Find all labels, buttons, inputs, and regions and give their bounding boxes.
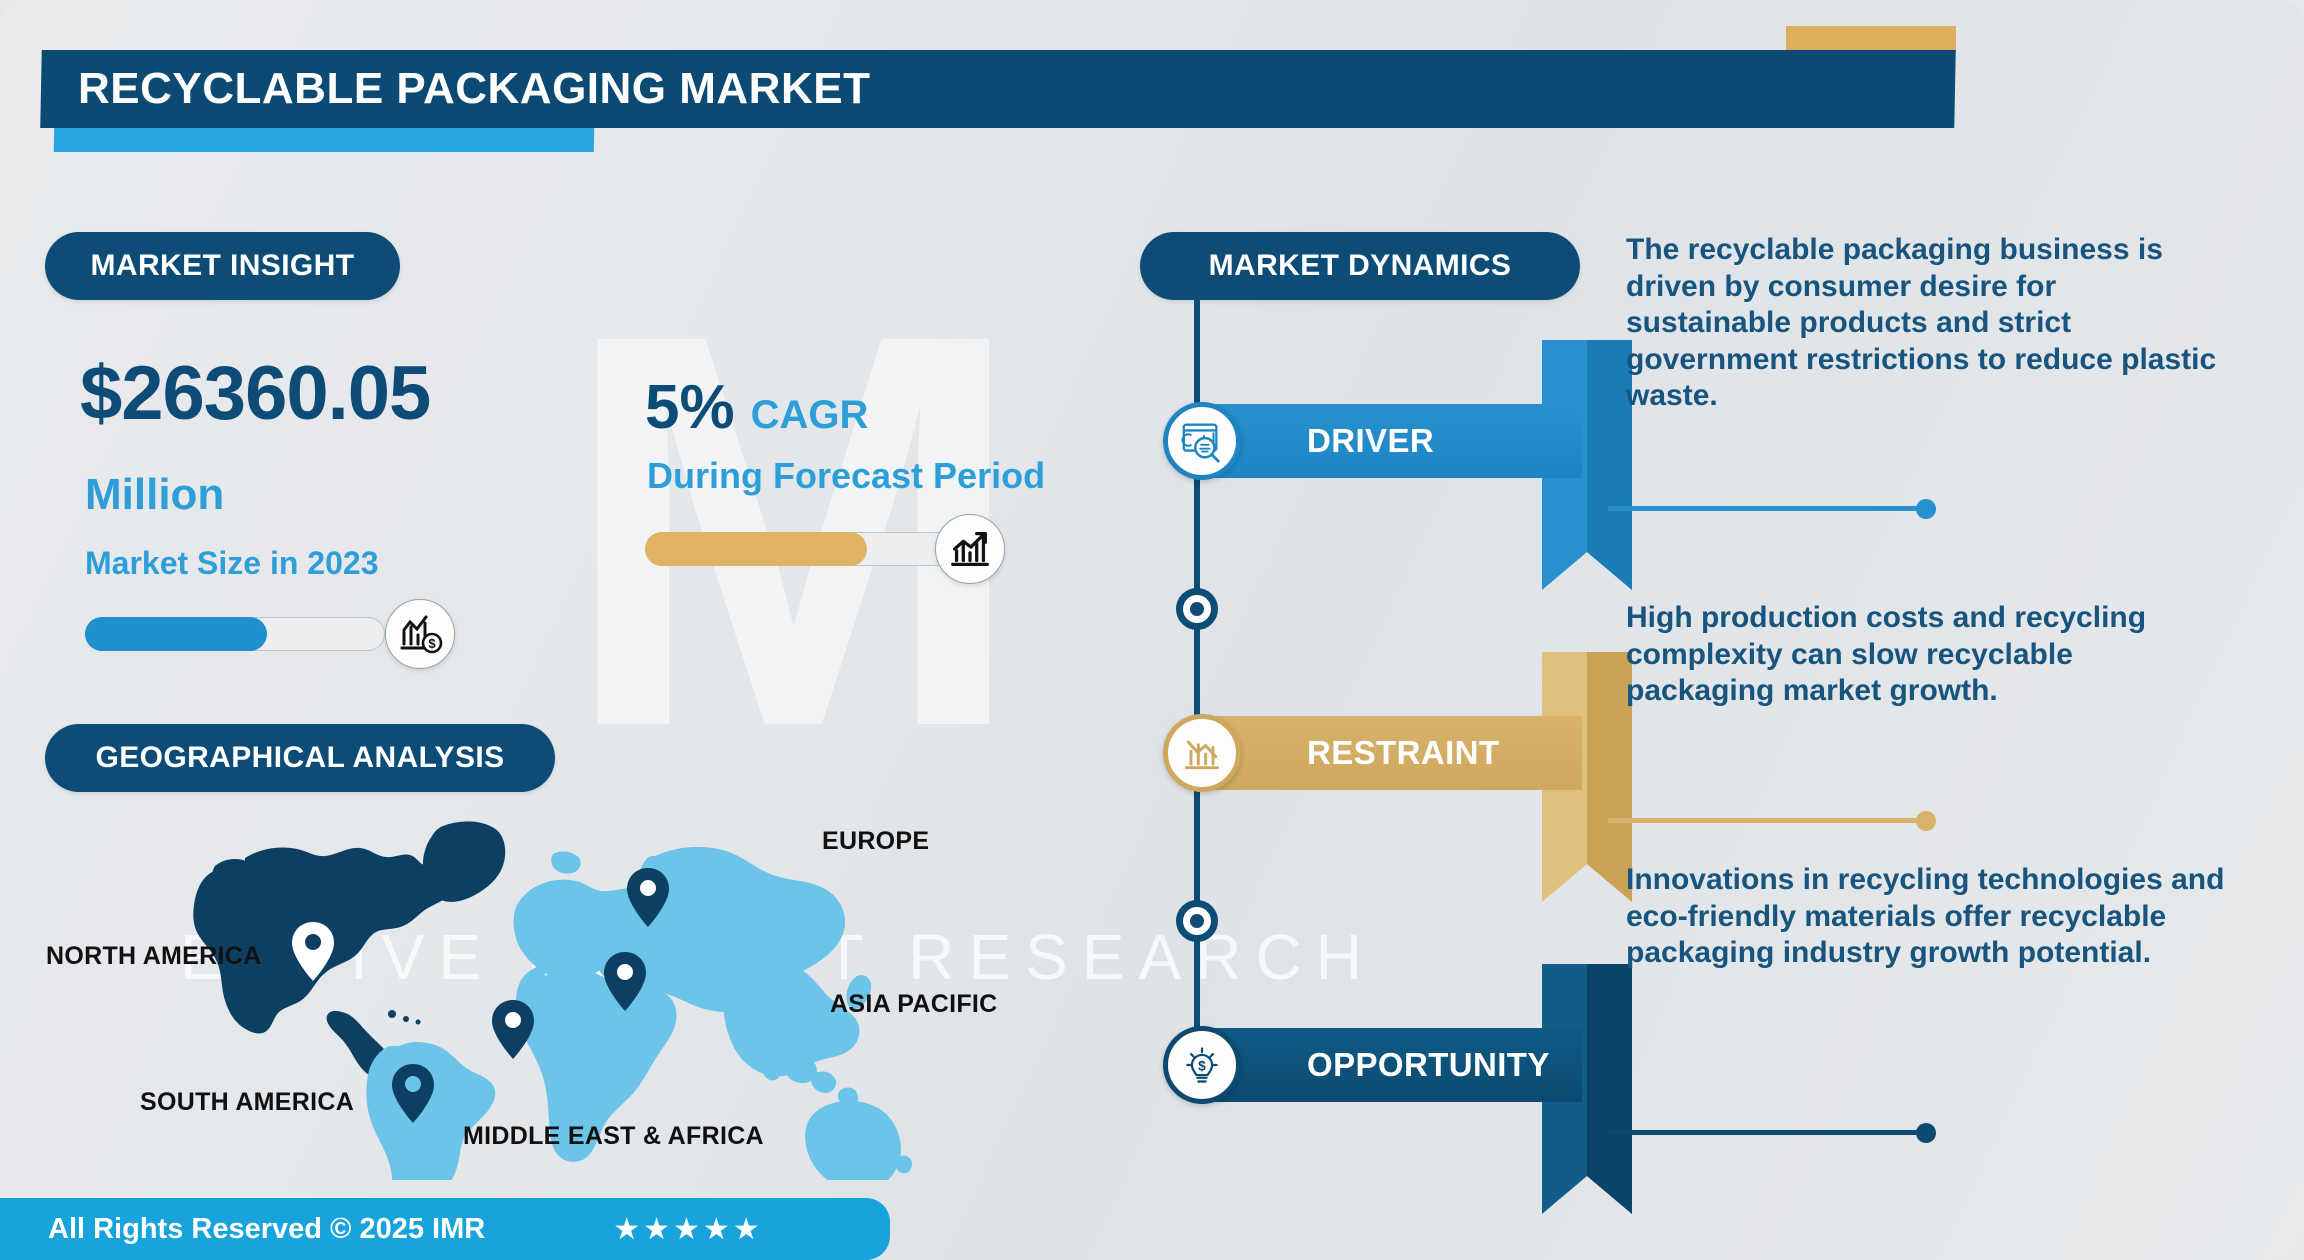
rating-stars: ★★★★★ <box>613 1212 762 1247</box>
cagr-caption: During Forecast Period <box>647 455 1045 497</box>
market-insight-pill: MARKET INSIGHT <box>45 232 400 300</box>
dynamics-connector-dot <box>1176 900 1218 942</box>
driver-rule-knob <box>1916 499 1936 519</box>
svg-text:$: $ <box>428 636 436 651</box>
driver-bar[interactable]: DRIVER <box>1197 404 1582 478</box>
opportunity-label: OPPORTUNITY <box>1307 1046 1550 1084</box>
market-size-value: $26360.05 <box>80 350 430 437</box>
svg-text:$: $ <box>1198 1059 1206 1074</box>
opportunity-bar[interactable]: OPPORTUNITY <box>1197 1028 1582 1102</box>
map-pin-middle-east-africa <box>492 1000 534 1059</box>
map-label-north-america: NORTH AMERICA <box>46 942 261 971</box>
restraint-bar[interactable]: RESTRAINT <box>1197 716 1582 790</box>
infographic-canvas: M ECTIVE MARKET RESEARCH RECYCLABLE PACK… <box>0 0 2304 1260</box>
market-size-caption: Market Size in 2023 <box>85 545 378 582</box>
restraint-description: High production costs and recycling comp… <box>1626 600 2226 710</box>
copyright-text: All Rights Reserved © 2025 IMR <box>48 1213 485 1246</box>
driver-rule <box>1608 506 1928 511</box>
opportunity-description: Innovations in recycling technologies an… <box>1626 862 2226 972</box>
cagr-row: 5% CAGR <box>645 372 868 443</box>
page-title: RECYCLABLE PACKAGING MARKET <box>78 50 1678 128</box>
driver-description: The recyclable packaging business is dri… <box>1626 232 2226 415</box>
map-label-middle-east-africa: MIDDLE EAST & AFRICA <box>463 1122 764 1151</box>
restraint-rule <box>1608 818 1928 823</box>
driver-label: DRIVER <box>1307 422 1434 460</box>
map-label-europe: EUROPE <box>822 827 929 856</box>
declining-bar-chart-icon <box>1163 714 1241 792</box>
growth-chart-arrow-icon <box>935 514 1005 584</box>
map-label-asia-pacific: ASIA PACIFIC <box>830 990 998 1019</box>
market-size-unit: Million <box>85 470 224 520</box>
map-label-south-america: SOUTH AMERICA <box>140 1088 354 1117</box>
cagr-progress-fill <box>645 532 867 566</box>
restraint-rule-knob <box>1916 811 1936 831</box>
market-dynamics-pill: MARKET DYNAMICS <box>1140 232 1580 300</box>
header-accent-bar <box>54 128 594 152</box>
lightbulb-dollar-icon: $ <box>1163 1026 1241 1104</box>
cagr-value: 5% <box>645 372 735 443</box>
header-gold-bar <box>1786 26 1956 52</box>
cagr-label: CAGR <box>751 393 869 438</box>
footer-bar: All Rights Reserved © 2025 IMR ★★★★★ <box>0 1198 890 1260</box>
report-magnifier-icon <box>1163 402 1241 480</box>
bar-chart-dollar-icon: $ <box>385 599 455 669</box>
opportunity-rule <box>1608 1130 1928 1135</box>
dynamics-connector-dot <box>1176 588 1218 630</box>
geographical-analysis-pill: GEOGRAPHICAL ANALYSIS <box>45 724 555 792</box>
restraint-label: RESTRAINT <box>1307 734 1499 772</box>
opportunity-rule-knob <box>1916 1123 1936 1143</box>
market-size-progress-fill <box>85 617 267 651</box>
